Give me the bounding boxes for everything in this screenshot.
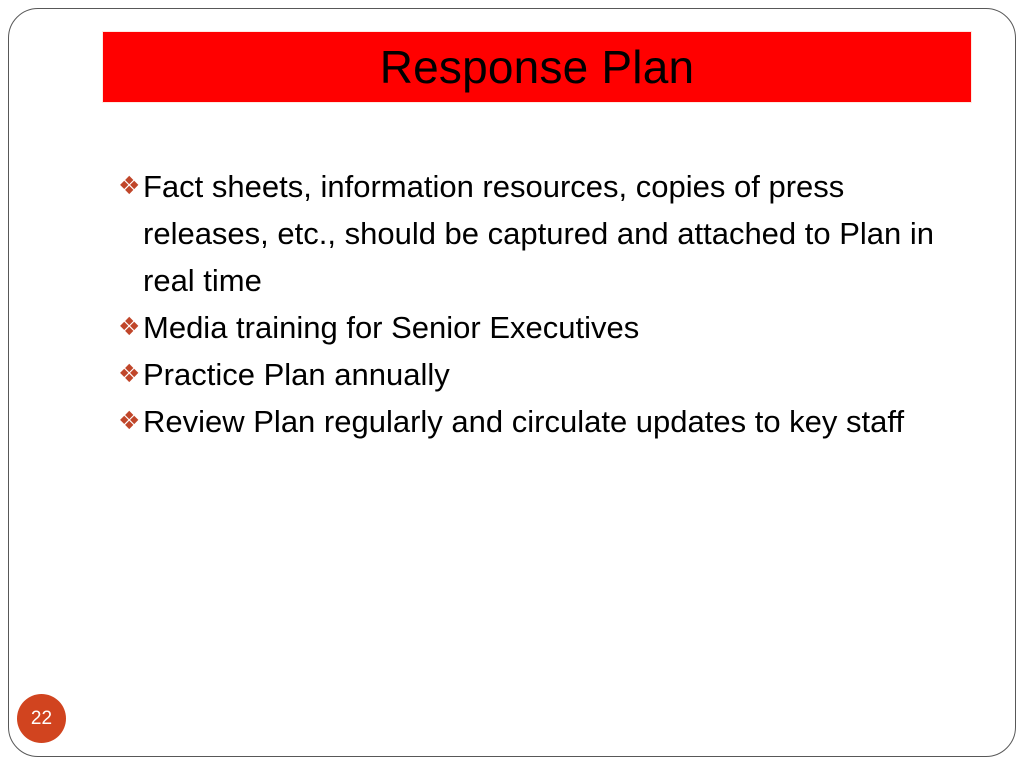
list-item-label: Review Plan regularly and circulate upda… bbox=[143, 398, 963, 445]
list-item-label: Practice Plan annually bbox=[143, 351, 963, 398]
page-number-badge: 22 bbox=[17, 694, 66, 743]
title-banner: Response Plan bbox=[102, 31, 972, 103]
diamond-bullet-icon: ❖ bbox=[118, 304, 142, 351]
list-item-label: Fact sheets, information resources, copi… bbox=[143, 163, 963, 304]
bullet-list: ❖ Fact sheets, information resources, co… bbox=[113, 163, 963, 445]
slide: Response Plan ❖ Fact sheets, information… bbox=[0, 0, 1024, 768]
page-title: Response Plan bbox=[380, 44, 695, 90]
list-item: ❖ Fact sheets, information resources, co… bbox=[113, 163, 963, 304]
diamond-bullet-icon: ❖ bbox=[118, 398, 142, 445]
diamond-bullet-icon: ❖ bbox=[118, 351, 142, 398]
list-item-label: Media training for Senior Executives bbox=[143, 304, 963, 351]
list-item: ❖ Practice Plan annually bbox=[113, 351, 963, 398]
list-item: ❖ Media training for Senior Executives bbox=[113, 304, 963, 351]
page-number-label: 22 bbox=[31, 709, 52, 728]
list-item: ❖ Review Plan regularly and circulate up… bbox=[113, 398, 963, 445]
diamond-bullet-icon: ❖ bbox=[118, 163, 142, 210]
